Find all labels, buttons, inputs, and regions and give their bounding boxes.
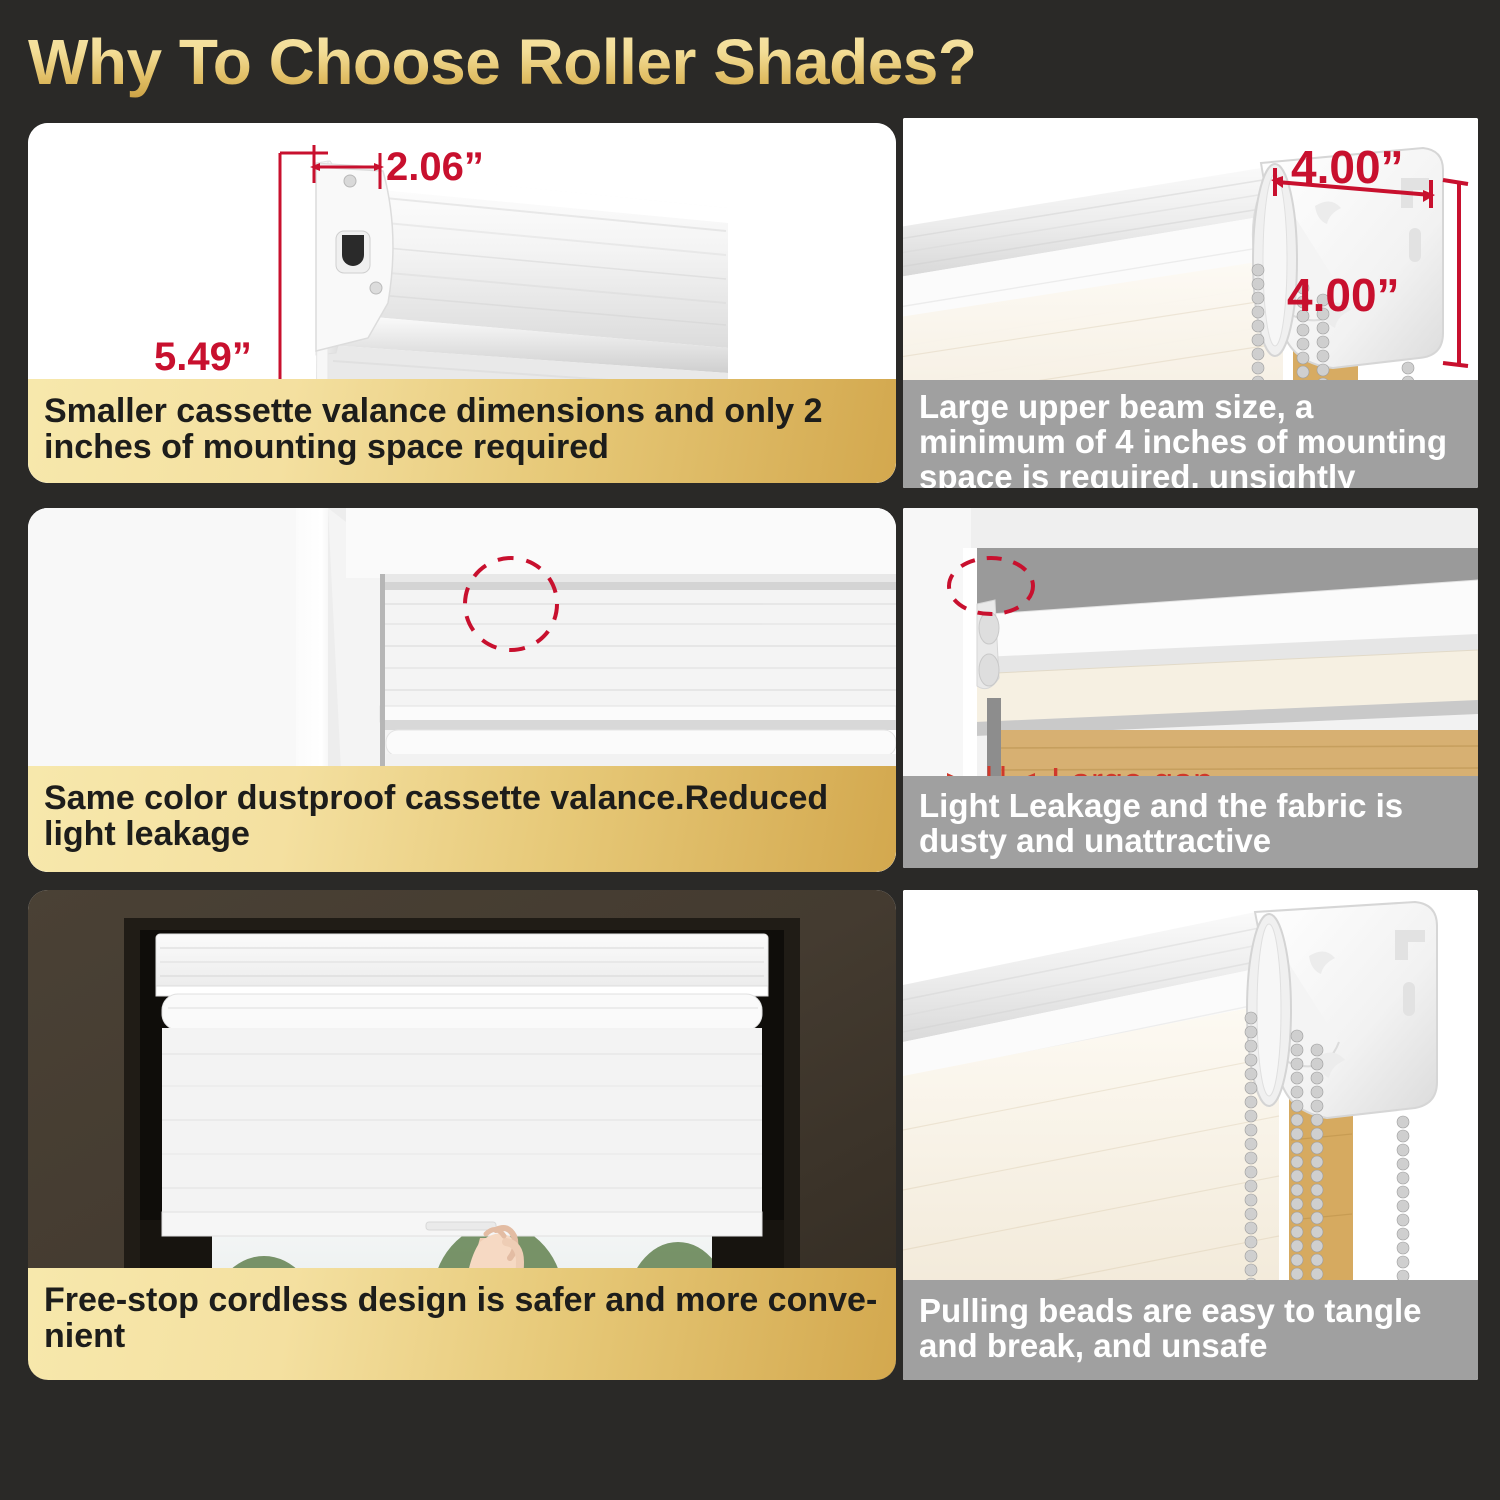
- caption-line: Smaller cassette valance dimensions and …: [44, 393, 880, 429]
- caption-bad-pulling-beads: Pulling beads are easy to tangle and bre…: [903, 1280, 1478, 1380]
- caption-line: Pulling beads are easy to tangle: [919, 1294, 1462, 1329]
- panel-bad-pulling-beads: Pulling beads are easy to tangle and bre…: [903, 890, 1478, 1380]
- caption-line: Light Leakage and the fabric is: [919, 789, 1462, 824]
- caption-bad-large-gap: Light Leakage and the fabric is dusty an…: [903, 776, 1478, 868]
- caption-line: light leakage: [44, 816, 880, 852]
- caption-line: Large upper beam size, a: [919, 390, 1462, 425]
- caption-line: minimum of 4 inches of mounting: [919, 425, 1462, 460]
- caption-bad-large-upper-beam: Large upper beam size, a minimum of 4 in…: [903, 380, 1478, 488]
- page-title: Why To Choose Roller Shades?: [28, 20, 1228, 104]
- caption-line: Same color dustproof cassette valance.Re…: [44, 780, 880, 816]
- caption-line: nient: [44, 1318, 880, 1354]
- dimension-width-label: 4.00”: [1291, 140, 1404, 194]
- panel-good-cordless-design: Free-stop cordless design is safer and m…: [28, 890, 896, 1380]
- caption-line: and break, and unsafe: [919, 1329, 1462, 1364]
- dimension-width-label: 2.06”: [386, 145, 484, 190]
- dimension-height-label: 5.49”: [154, 335, 252, 380]
- caption-good-cassette-dimensions: Smaller cassette valance dimensions and …: [28, 379, 896, 483]
- caption-good-cordless-design: Free-stop cordless design is safer and m…: [28, 1268, 896, 1380]
- caption-line: space is required, unsightly: [919, 460, 1462, 488]
- caption-line: dusty and unattractive: [919, 824, 1462, 859]
- panel-bad-large-upper-beam: 4.00” 4.00” Large upper beam size, a min…: [903, 118, 1478, 488]
- caption-good-smaller-gap: Same color dustproof cassette valance.Re…: [28, 766, 896, 872]
- panel-good-smaller-gap: smaller gap Same color dustproof cassett…: [28, 508, 896, 872]
- panel-bad-large-gap: Large gap Light Leakage and the fabric i…: [903, 508, 1478, 868]
- dimension-height-label: 4.00”: [1287, 268, 1400, 322]
- caption-line: Free-stop cordless design is safer and m…: [44, 1282, 880, 1318]
- caption-line: inches of mounting space required: [44, 429, 880, 465]
- panel-good-cassette-dimensions: 2.06” 5.49” Smaller cassette valance dim…: [28, 123, 896, 483]
